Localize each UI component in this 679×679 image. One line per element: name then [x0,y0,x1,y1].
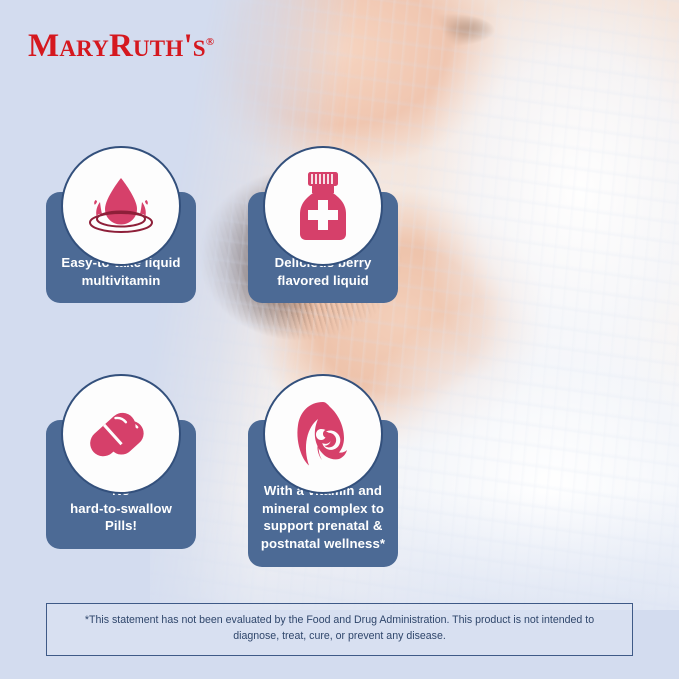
water-droplet-icon [61,146,181,266]
feature-card-no-pills: No hard-to-swallow Pills! [46,420,196,549]
photo-bottom-fade [0,0,679,679]
brand-logo: MaryRuth's® [28,30,214,63]
feature-card-prenatal-postnatal: With a vitamin and mineral complex to su… [248,420,398,567]
fda-disclaimer: *This statement has not been evaluated b… [46,603,633,656]
product-feature-graphic: MaryRuth's® Easy-to-take liquid multivit… [0,0,679,679]
capsule-pills-icon [61,374,181,494]
logo-text-ruths: Ruth's [109,28,206,64]
medicine-bottle-icon [263,146,383,266]
logo-text-mary: Mary [28,28,109,64]
mother-and-baby-icon [263,374,383,494]
registered-trademark-icon: ® [206,36,214,48]
feature-card-easy-to-take-liquid: Easy-to-take liquid multivitamin [46,192,196,303]
feature-card-berry-flavored: Delicious berry flavored liquid [248,192,398,303]
background-photo [0,0,679,679]
